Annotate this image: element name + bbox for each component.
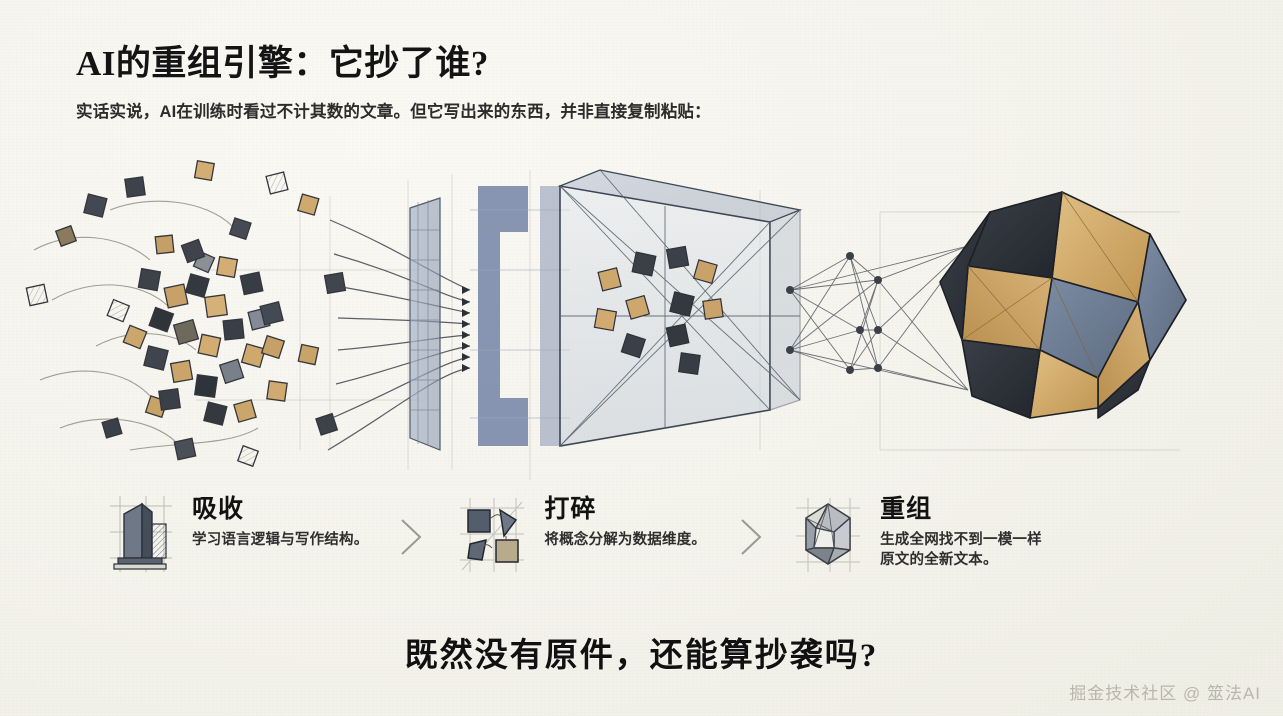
neural-graph (786, 246, 968, 390)
main-illustration (0, 150, 1283, 490)
polyhedron-icon (790, 492, 866, 576)
footer-question: 既然没有原件，还能算抄袭吗? (0, 628, 1283, 676)
step-title: 重组 (880, 496, 1042, 524)
page-subtitle: 实话实说，AI在训练时看过不计其数的文章。但它写出来的东西，并非直接复制粘贴： (76, 98, 1076, 122)
stream-arrowheads (462, 286, 470, 372)
step-desc-line: 学习语言逻辑与写作结构。 (192, 530, 368, 551)
watermark: 掘金技术社区 @ 筮法AI (1069, 679, 1261, 704)
slide-canvas: AI的重组引擎：它抄了谁? 实话实说，AI在训练时看过不计其数的文章。但它写出来… (0, 0, 1283, 716)
chevron-right-icon (394, 514, 428, 560)
scatter-squares (26, 161, 345, 467)
step-title: 吸收 (192, 496, 368, 524)
prism-box (560, 170, 800, 446)
chevron-right-icon (734, 514, 768, 560)
shatter-icon (454, 492, 530, 576)
funnel-panel (410, 198, 440, 450)
step-shatter[interactable]: 打碎 将概念分解为数据维度。 (454, 492, 706, 576)
step-desc: 生成全网找不到一模一样 原文的全新文本。 (880, 530, 1042, 571)
flow-lines (328, 220, 470, 450)
steps-row: 吸收 学习语言逻辑与写作结构。 (100, 492, 1200, 602)
step-desc: 将概念分解为数据维度。 (544, 530, 706, 551)
header: AI的重组引擎：它抄了谁? 实话实说，AI在训练时看过不计其数的文章。但它写出来… (76, 44, 1076, 122)
page-title: AI的重组引擎：它抄了谁? (76, 44, 1076, 84)
step-desc-line: 原文的全新文本。 (880, 550, 1042, 571)
step-absorb-text: 吸收 学习语言逻辑与写作结构。 (192, 492, 368, 550)
step-shatter-text: 打碎 将概念分解为数据维度。 (544, 492, 706, 550)
blue-gate (470, 186, 570, 446)
step-recombine-text: 重组 生成全网找不到一模一样 原文的全新文本。 (880, 492, 1042, 571)
step-desc-line: 将概念分解为数据维度。 (544, 530, 706, 551)
building-icon (102, 492, 178, 576)
step-absorb[interactable]: 吸收 学习语言逻辑与写作结构。 (102, 492, 368, 576)
polyhedron (940, 192, 1186, 418)
step-desc-line: 生成全网找不到一模一样 (880, 530, 1042, 551)
step-recombine[interactable]: 重组 生成全网找不到一模一样 原文的全新文本。 (790, 492, 1042, 576)
step-desc: 学习语言逻辑与写作结构。 (192, 530, 368, 551)
step-title: 打碎 (544, 496, 706, 524)
